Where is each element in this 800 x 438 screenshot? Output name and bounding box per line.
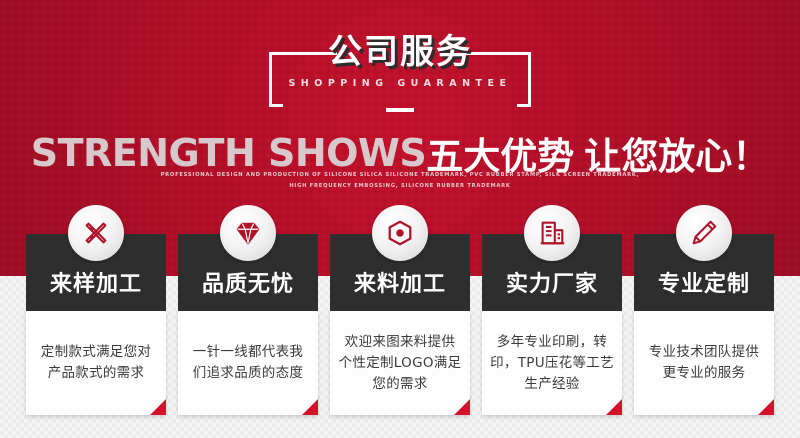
badge-title-cn: 公司服务 xyxy=(269,30,531,74)
corner-accent xyxy=(606,399,622,415)
card-title: 品质无忧 xyxy=(202,266,294,311)
headline-english: STRENGTH SHOWS xyxy=(31,131,427,175)
feature-card[interactable]: 来料加工 欢迎来图来料提供个性定制LOGO满足您的需求 xyxy=(330,205,470,425)
card-description: 专业技术团队提供更专业的服务 xyxy=(634,342,774,384)
card-description: 定制款式满足您对产品款式的需求 xyxy=(26,342,166,384)
card-description: 多年专业印刷，转印，TPU压花等工艺生产经验 xyxy=(482,332,622,395)
promo-banner: 公司服务 SHOPPING GUARANTEE STRENGTH SHOWS五大… xyxy=(0,0,800,438)
header-badge: 公司服务 SHOPPING GUARANTEE xyxy=(0,30,800,125)
card-body: 多年专业印刷，转印，TPU压花等工艺生产经验 xyxy=(482,311,622,415)
corner-accent xyxy=(150,399,166,415)
card-title: 专业定制 xyxy=(658,266,750,311)
hex-nut-icon xyxy=(372,205,428,261)
diamond-icon xyxy=(220,205,276,261)
card-body: 欢迎来图来料提供个性定制LOGO满足您的需求 xyxy=(330,311,470,415)
subtitle-line-2: HIGH FREQUENCY EMBOSSING, SILICONE RUBBE… xyxy=(0,181,800,192)
subtitle-line-1: PROFESSIONAL DESIGN AND PRODUCTION OF SI… xyxy=(0,170,800,181)
ruler-pencil-icon xyxy=(68,205,124,261)
pencil-icon xyxy=(676,205,732,261)
feature-card[interactable]: 实力厂家 多年专业印刷，转印，TPU压花等工艺生产经验 xyxy=(482,205,622,425)
feature-card-list: 来样加工 定制款式满足您对产品款式的需求 品质无忧 xyxy=(0,205,800,438)
card-description: 一针一线都代表我们追求品质的态度 xyxy=(178,342,318,384)
card-description: 欢迎来图来料提供个性定制LOGO满足您的需求 xyxy=(330,332,470,395)
card-body: 专业技术团队提供更专业的服务 xyxy=(634,311,774,415)
card-body: 定制款式满足您对产品款式的需求 xyxy=(26,311,166,415)
corner-accent xyxy=(302,399,318,415)
building-icon xyxy=(524,205,580,261)
corner-accent xyxy=(454,399,470,415)
headline-subtitle: PROFESSIONAL DESIGN AND PRODUCTION OF SI… xyxy=(0,170,800,192)
badge-subtitle-en: SHOPPING GUARANTEE xyxy=(269,78,531,89)
card-title: 来料加工 xyxy=(354,266,446,311)
feature-card[interactable]: 来样加工 定制款式满足您对产品款式的需求 xyxy=(26,205,166,425)
card-title: 来样加工 xyxy=(50,266,142,311)
feature-card[interactable]: 品质无忧 一针一线都代表我们追求品质的态度 xyxy=(178,205,318,425)
card-title: 实力厂家 xyxy=(506,266,598,311)
feature-card[interactable]: 专业定制 专业技术团队提供更专业的服务 xyxy=(634,205,774,425)
corner-accent xyxy=(758,399,774,415)
badge-dash-decoration xyxy=(386,108,414,112)
card-body: 一针一线都代表我们追求品质的态度 xyxy=(178,311,318,415)
